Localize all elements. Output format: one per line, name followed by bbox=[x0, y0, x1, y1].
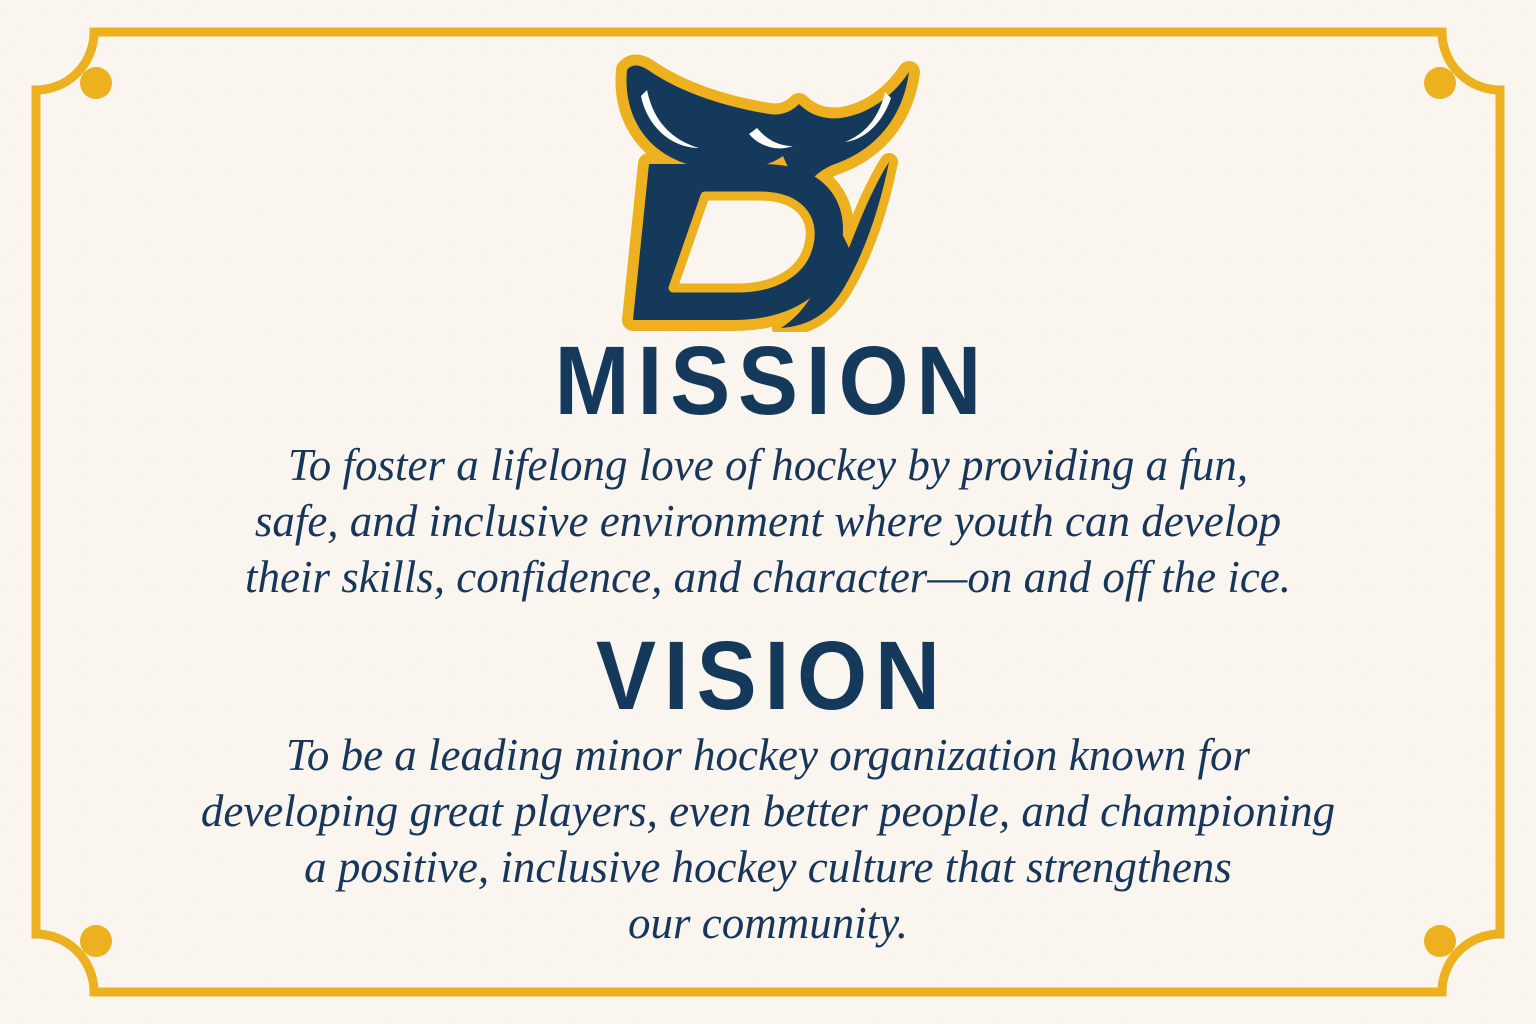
dv-whale-tail-logo-icon bbox=[613, 52, 923, 332]
corner-dot-bottom-right bbox=[1424, 925, 1456, 957]
mission-heading: MISSION bbox=[54, 332, 1482, 429]
corner-dot-bottom-left bbox=[80, 925, 112, 957]
mission-vision-card: MISSION To foster a lifelong love of hoc… bbox=[0, 0, 1536, 1024]
team-logo bbox=[0, 52, 1536, 332]
vision-heading: VISION bbox=[54, 627, 1482, 724]
vision-body-text: To be a leading minor hockey organizatio… bbox=[118, 727, 1418, 951]
mission-body-text: To foster a lifelong love of hockey by p… bbox=[138, 437, 1398, 605]
